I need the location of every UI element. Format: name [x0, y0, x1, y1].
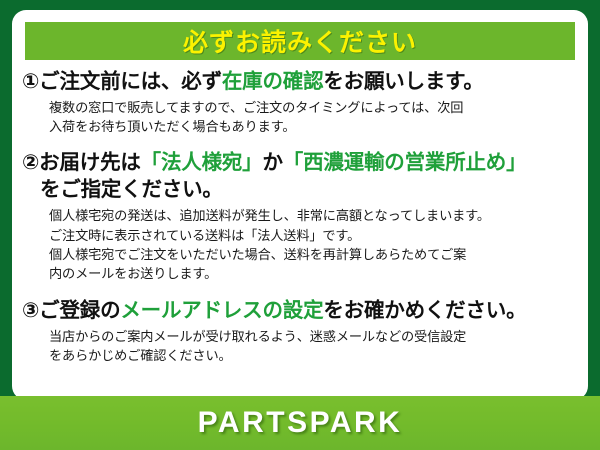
- notice-item-2-heading-highlight-2: 「西濃運輸の営業所止め」: [283, 151, 527, 174]
- notice-item-2-heading-highlight: 「法人様宛」: [141, 151, 263, 174]
- notice-item-2-body-line-2: ご注文時に表示されている送料は「法人送料」です。: [49, 226, 582, 245]
- notice-item-1-heading-post: をお願いします。: [323, 70, 483, 93]
- footer-logo-band: PARTSPARK: [0, 396, 600, 450]
- brand-logo: PARTSPARK: [198, 406, 403, 440]
- notice-item-3-heading-highlight: メールアドレスの設定: [120, 299, 323, 322]
- notice-title-band: 必ずお読みください: [25, 22, 575, 60]
- notice-item-2-body-line-1: 個人様宅宛の発送は、追加送料が発生し、非常に高額となってしまいます。: [49, 206, 582, 225]
- notice-item-3: ③ご登録のメールアドレスの設定をお確かめください。 当店からのご案内メールが受け…: [12, 297, 588, 365]
- notice-item-1-body-line-2: 入荷をお待ち頂いただく場合もあります。: [49, 117, 582, 136]
- notice-item-1-body: 複数の窓口で販売してますので、ご注文のタイミングによっては、次回 入荷をお待ち頂…: [18, 95, 582, 136]
- notice-item-3-marker: ③: [22, 299, 39, 322]
- notice-item-1: ①ご注文前には、必ず在庫の確認をお願いします。 複数の窓口で販売してますので、ご…: [12, 68, 588, 136]
- notice-item-2-heading-mid: か: [262, 151, 282, 174]
- notice-item-3-body-line-1: 当店からのご案内メールが受け取れるよう、迷惑メールなどの受信設定: [49, 327, 582, 346]
- notice-panel: 必ずお読みください ①ご注文前には、必ず在庫の確認をお願いします。 複数の窓口で…: [12, 10, 588, 400]
- notice-item-2-marker: ②: [22, 151, 39, 174]
- notice-item-1-heading: ①ご注文前には、必ず在庫の確認をお願いします。: [18, 68, 582, 95]
- notice-item-3-body: 当店からのご案内メールが受け取れるよう、迷惑メールなどの受信設定 をあらかじめご…: [18, 324, 582, 365]
- notice-item-3-heading-post: をお確かめください。: [323, 299, 526, 322]
- notice-item-2: ②お届け先は「法人様宛」か「西濃運輸の営業所止め」をご指定ください。 個人様宅宛…: [12, 149, 588, 283]
- page-title: 必ずお読みください: [183, 23, 417, 59]
- notice-item-3-heading: ③ご登録のメールアドレスの設定をお確かめください。: [18, 297, 582, 324]
- notice-item-2-heading-line-2: をご指定ください。: [22, 176, 582, 203]
- notice-item-2-body-line-4: 内のメールをお送りします。: [49, 264, 582, 283]
- notice-item-1-heading-pre: ご注文前には、必ず: [39, 70, 222, 93]
- notice-item-1-body-line-1: 複数の窓口で販売してますので、ご注文のタイミングによっては、次回: [49, 98, 582, 117]
- notice-item-2-heading-pre: お届け先は: [39, 151, 141, 174]
- notice-item-3-body-line-2: をあらかじめご確認ください。: [49, 346, 582, 365]
- notice-item-1-marker: ①: [22, 70, 39, 93]
- notice-card: 必ずお読みください ①ご注文前には、必ず在庫の確認をお願いします。 複数の窓口で…: [0, 0, 600, 450]
- notice-items: ①ご注文前には、必ず在庫の確認をお願いします。 複数の窓口で販売してますので、ご…: [12, 68, 588, 365]
- notice-item-1-heading-highlight: 在庫の確認: [222, 70, 324, 93]
- notice-item-3-heading-pre: ご登録の: [39, 299, 120, 322]
- notice-item-2-body-line-3: 個人様宅宛でご注文をいただいた場合、送料を再計算しあらためてご案: [49, 245, 582, 264]
- notice-item-2-body: 個人様宅宛の発送は、追加送料が発生し、非常に高額となってしまいます。 ご注文時に…: [18, 203, 582, 283]
- notice-item-2-heading: ②お届け先は「法人様宛」か「西濃運輸の営業所止め」をご指定ください。: [18, 149, 582, 203]
